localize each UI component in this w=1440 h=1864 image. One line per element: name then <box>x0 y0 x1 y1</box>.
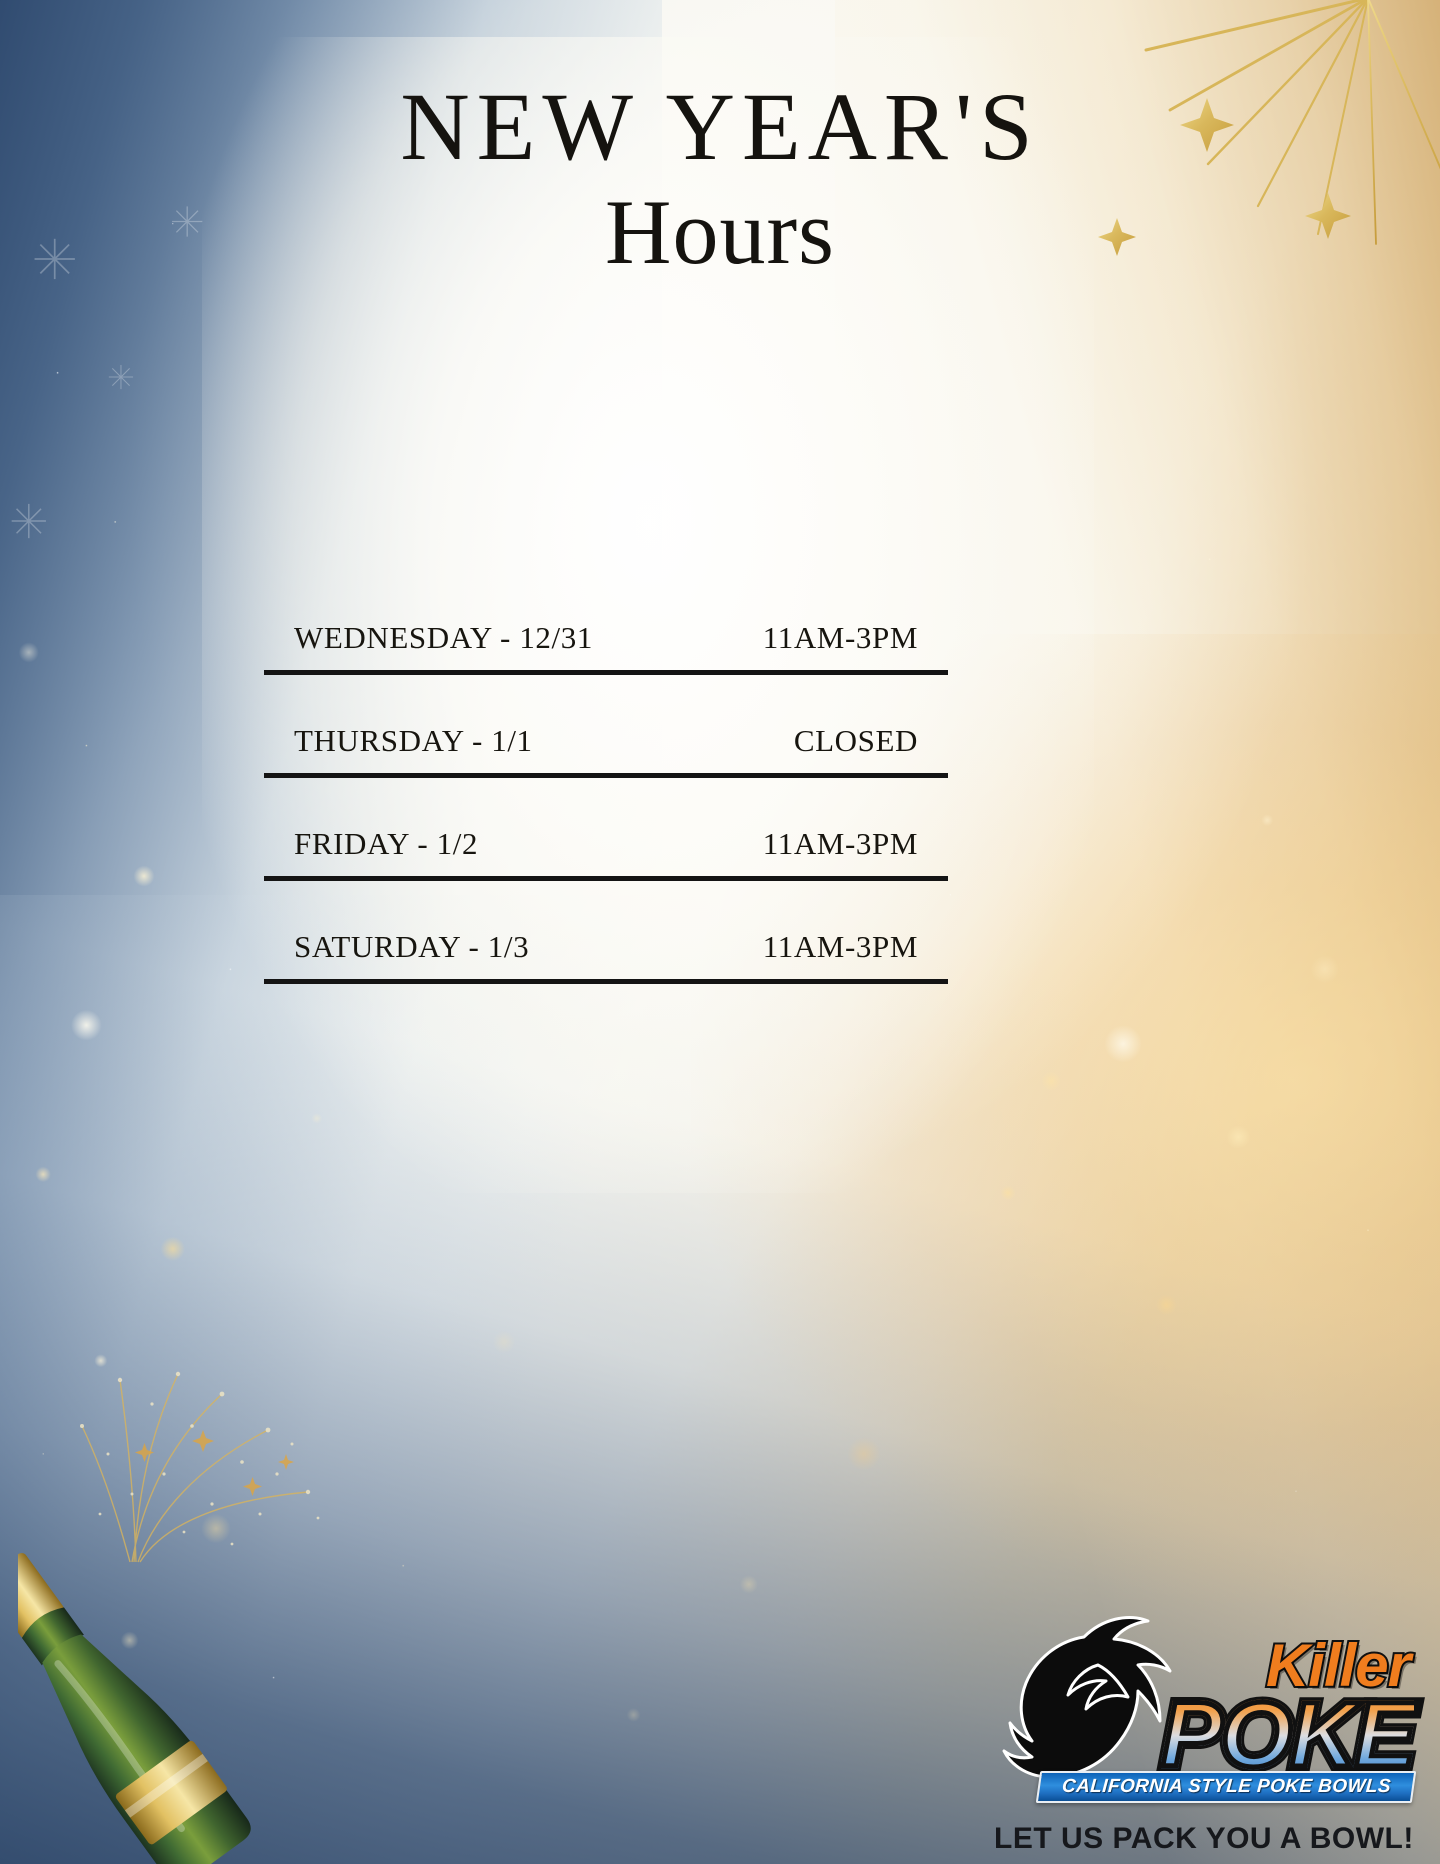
logo-graphic: POKE Killer POKE CALIFORNIA STYLE POKE B… <box>994 1603 1414 1818</box>
row-day-label: WEDNESDAY - 12/31 <box>294 620 593 656</box>
row-time-value: 11AM-3PM <box>763 620 918 656</box>
title-line-new-years: NEW YEAR'S <box>0 78 1440 176</box>
row-day-label: SATURDAY - 1/3 <box>294 929 529 965</box>
logo-tagline: LET US PACK YOU A BOWL! <box>994 1822 1414 1856</box>
title-line-hours: Hours <box>0 182 1440 283</box>
new-years-hours-poster: NEW YEAR'S Hours WEDNESDAY - 12/31 11AM-… <box>0 0 1440 1864</box>
table-row: SATURDAY - 1/3 11AM-3PM <box>264 929 948 984</box>
poster-title: NEW YEAR'S Hours <box>0 78 1440 283</box>
row-day-label: THURSDAY - 1/1 <box>294 723 533 759</box>
logo-banner-text: CALIFORNIA STYLE POKE BOWLS <box>1061 1776 1391 1798</box>
table-row: WEDNESDAY - 12/31 11AM-3PM <box>264 620 948 675</box>
row-time-value: 11AM-3PM <box>763 826 918 862</box>
logo-banner: CALIFORNIA STYLE POKE BOWLS <box>1036 1771 1416 1803</box>
table-row: THURSDAY - 1/1 CLOSED <box>264 723 948 778</box>
killer-poke-logo[interactable]: POKE Killer POKE CALIFORNIA STYLE POKE B… <box>994 1603 1414 1856</box>
hours-schedule-table: WEDNESDAY - 12/31 11AM-3PM THURSDAY - 1/… <box>264 620 948 984</box>
row-day-label: FRIDAY - 1/2 <box>294 826 478 862</box>
row-time-value: 11AM-3PM <box>763 929 918 965</box>
marlin-fish-icon <box>988 1613 1188 1788</box>
row-time-value: CLOSED <box>794 723 918 759</box>
table-row: FRIDAY - 1/2 11AM-3PM <box>264 826 948 881</box>
